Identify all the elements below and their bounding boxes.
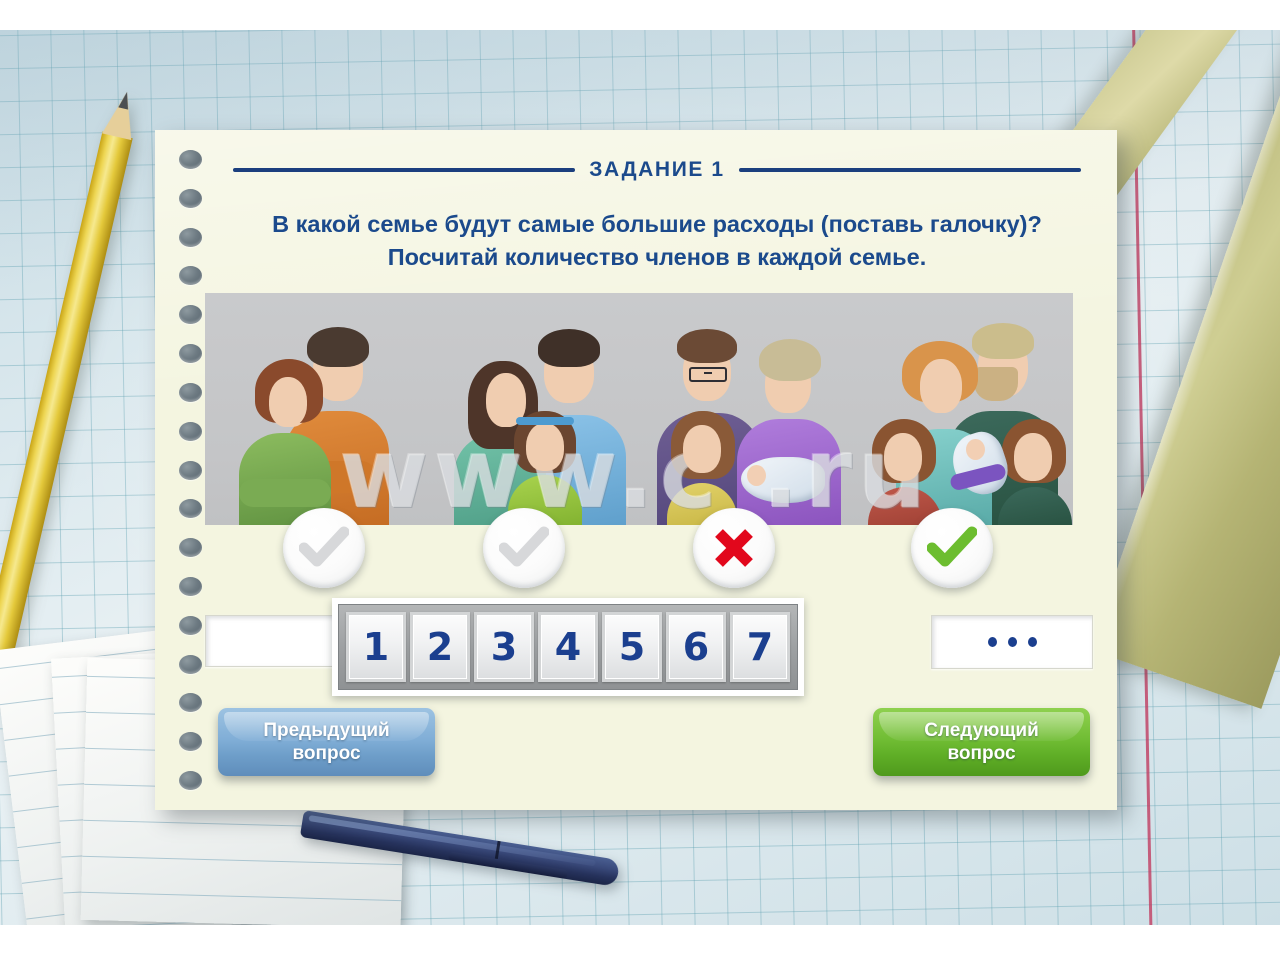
previous-question-label-line1: Предыдущий: [218, 719, 435, 742]
ellipsis-dot: [1008, 637, 1017, 647]
ellipsis-dot: [1028, 637, 1037, 647]
previous-question-label-line2: вопрос: [218, 742, 435, 765]
beard-icon: [974, 367, 1018, 401]
cross-icon: [712, 526, 756, 570]
number-tile-7[interactable]: 7: [730, 612, 790, 682]
number-tile-6[interactable]: 6: [666, 612, 726, 682]
number-tile-1[interactable]: 1: [346, 612, 406, 682]
punch-hole: [179, 616, 202, 635]
page-title: ЗАДАНИЕ 1: [589, 158, 724, 182]
punch-hole: [179, 461, 202, 480]
punch-hole: [179, 693, 202, 712]
punch-hole: [179, 189, 202, 208]
punch-hole: [179, 150, 202, 169]
family-group-3: [645, 293, 850, 525]
number-tile-3[interactable]: 3: [474, 612, 534, 682]
check-icon: [299, 526, 349, 570]
next-question-label-line1: Следующий: [873, 719, 1090, 742]
punch-hole: [179, 771, 202, 790]
question-text: В какой семье будут самые большие расход…: [217, 208, 1097, 275]
answer-mark-1[interactable]: [283, 508, 365, 588]
number-tile-5[interactable]: 5: [602, 612, 662, 682]
question-line-2: Посчитай количество членов в каждой семь…: [217, 241, 1097, 274]
task-card: ЗАДАНИЕ 1 В какой семье будут самые боль…: [155, 130, 1117, 810]
punch-hole: [179, 422, 202, 441]
family-group-2: [428, 293, 633, 525]
punch-hole: [179, 344, 202, 363]
answer-mark-3[interactable]: [693, 508, 775, 588]
family-group-4: [862, 293, 1067, 525]
punch-hole: [179, 577, 202, 596]
punch-hole: [179, 266, 202, 285]
answer-mark-4[interactable]: [911, 508, 993, 588]
answer-blank-right[interactable]: [931, 615, 1093, 669]
task-title-row: ЗАДАНИЕ 1: [233, 158, 1081, 182]
punch-hole: [179, 228, 202, 247]
number-strip: 1 2 3 4 5 6 7: [332, 598, 804, 696]
title-rule-right: [739, 168, 1081, 172]
glasses-icon: [689, 367, 727, 382]
answer-marks-row: [205, 508, 1073, 588]
answer-mark-2[interactable]: [483, 508, 565, 588]
punch-hole: [179, 305, 202, 324]
punch-hole: [179, 499, 202, 518]
question-line-1: В какой семье будут самые большие расход…: [217, 208, 1097, 241]
families-illustration: [205, 293, 1073, 525]
punch-hole: [179, 538, 202, 557]
ellipsis-dot: [988, 637, 997, 647]
punch-holes: [174, 150, 206, 790]
previous-question-button[interactable]: Предыдущий вопрос: [218, 708, 435, 776]
next-question-button[interactable]: Следующий вопрос: [873, 708, 1090, 776]
check-icon: [927, 526, 977, 570]
slide-stage: ЗАДАНИЕ 1 В какой семье будут самые боль…: [0, 0, 1280, 960]
title-rule-left: [233, 168, 575, 172]
answer-input-row: 1 2 3 4 5 6 7: [205, 598, 1073, 690]
number-tile-2[interactable]: 2: [410, 612, 470, 682]
family-group-1: [211, 293, 416, 525]
check-icon: [499, 526, 549, 570]
punch-hole: [179, 383, 202, 402]
number-tile-4[interactable]: 4: [538, 612, 598, 682]
punch-hole: [179, 655, 202, 674]
punch-hole: [179, 732, 202, 751]
next-question-label-line2: вопрос: [873, 742, 1090, 765]
